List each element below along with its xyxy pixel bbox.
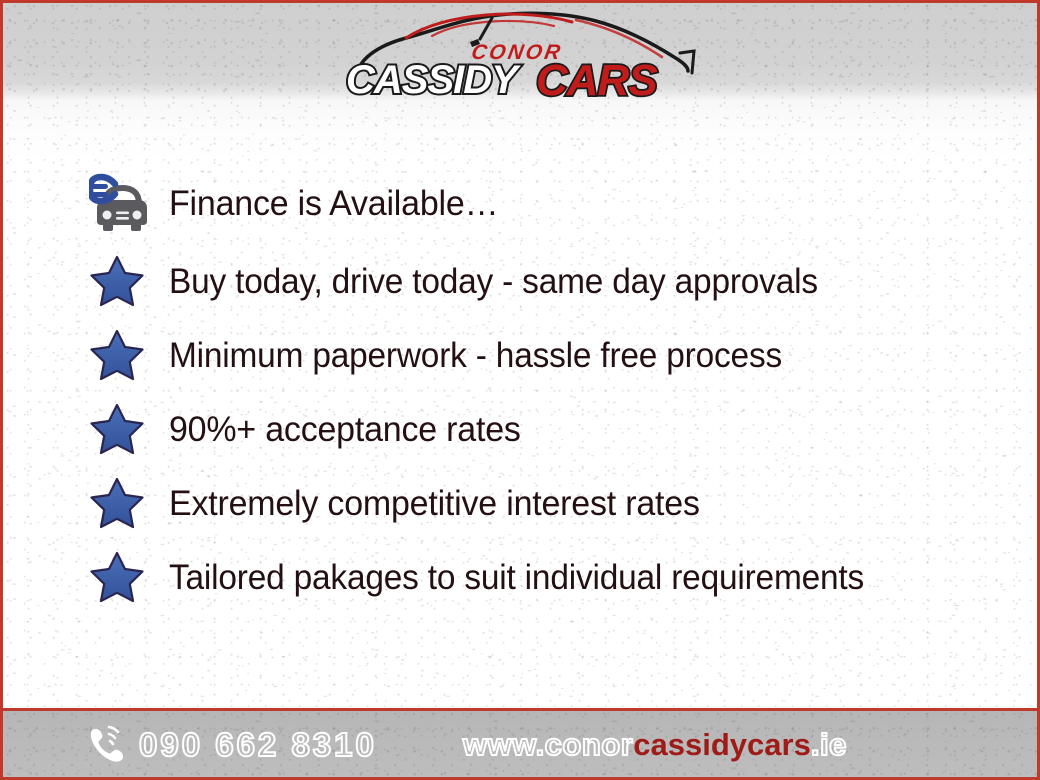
star-icon xyxy=(89,550,169,604)
star-icon xyxy=(89,328,169,382)
website-prefix: www.conor xyxy=(463,729,633,760)
website-suffix: .ie xyxy=(811,729,847,760)
list-item-label: 90%+ acceptance rates xyxy=(169,412,521,447)
list-item-label: Extremely competitive interest rates xyxy=(169,486,700,521)
star-icon xyxy=(89,402,169,456)
header-band: CONOR CASSIDY CARS xyxy=(3,3,1037,100)
benefits-list: Finance is Available… Buy today, drive t… xyxy=(3,100,1037,620)
list-item-label: Minimum paperwork - hassle free process xyxy=(169,338,782,373)
phone-number: 090 662 8310 xyxy=(139,728,377,761)
euro-car-icon xyxy=(89,172,169,234)
main-content: Finance is Available… Buy today, drive t… xyxy=(3,100,1037,708)
list-item: Finance is Available… xyxy=(3,172,1037,234)
border-top xyxy=(0,0,1040,3)
border-left xyxy=(0,0,3,780)
phone-contact[interactable]: 090 662 8310 xyxy=(83,723,377,765)
star-icon xyxy=(89,476,169,530)
list-item-label: Tailored pakages to suit individual requ… xyxy=(169,560,864,595)
list-item: Minimum paperwork - hassle free process xyxy=(3,324,1037,386)
svg-text:CARS: CARS xyxy=(536,56,657,100)
list-item: Buy today, drive today - same day approv… xyxy=(3,250,1037,312)
list-item: Extremely competitive interest rates xyxy=(3,472,1037,534)
list-item: 90%+ acceptance rates xyxy=(3,398,1037,460)
list-item: Tailored pakages to suit individual requ… xyxy=(3,546,1037,608)
phone-ringing-icon xyxy=(83,723,127,765)
list-item-label: Finance is Available… xyxy=(169,186,498,221)
list-item-label: Buy today, drive today - same day approv… xyxy=(169,264,818,299)
footer-band: 090 662 8310 www.conor cassidycars .ie xyxy=(3,708,1037,777)
website-highlight: cassidycars xyxy=(633,729,811,760)
website-url[interactable]: www.conor cassidycars .ie xyxy=(463,729,847,760)
conor-cassidy-cars-logo: CONOR CASSIDY CARS xyxy=(340,5,700,100)
svg-text:CASSIDY: CASSIDY xyxy=(346,58,521,100)
star-icon xyxy=(89,254,169,308)
advert-poster: CONOR CASSIDY CARS xyxy=(0,0,1040,780)
